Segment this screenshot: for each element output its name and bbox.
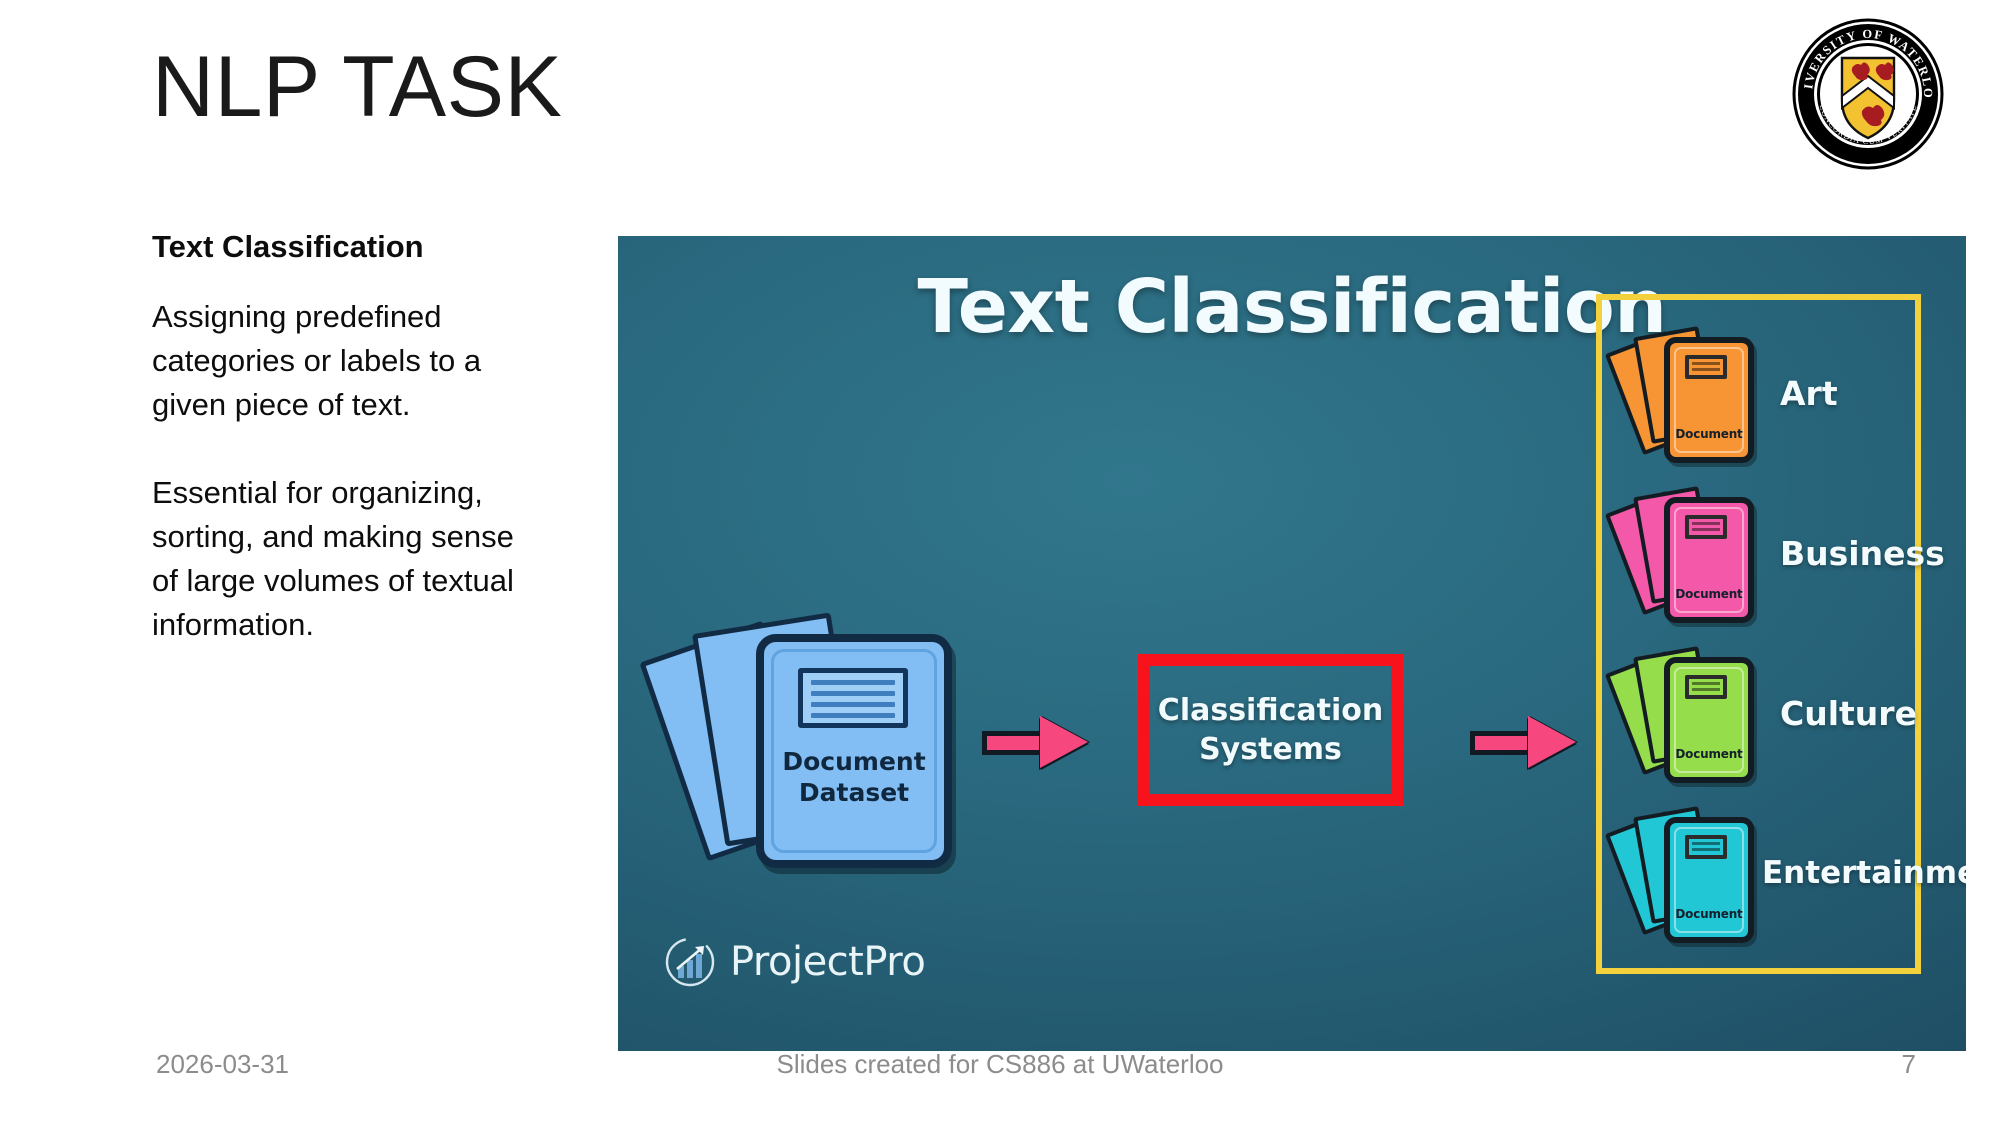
arrow-right-icon-2 [1470,716,1576,768]
dataset-card: Document Dataset [756,634,952,868]
category-card: Document [1664,657,1754,783]
category-doc-caption: Document [1670,907,1748,921]
projectpro-chart-icon [664,936,716,988]
category-doc-stack: Document [1620,483,1738,623]
category-card: Document [1664,497,1754,623]
category-row-culture: Document Culture [1620,638,1915,788]
category-label-business: Business [1780,534,1945,573]
body-paragraph-1: Assigning predefined categories or label… [152,295,542,427]
body-column: Text Classification Assigning predefined… [152,228,542,647]
projectpro-watermark: ProjectPro [664,936,925,988]
category-label-culture: Culture [1780,694,1917,733]
category-lines-icon [1685,675,1727,699]
university-of-waterloo-seal-icon: UNIVERSITY OF WATERLOO CONCORDIA CUM VER… [1792,18,1944,170]
classification-systems-box: Classification Systems [1138,654,1403,806]
category-row-entertainment: Document Entertainment [1620,798,1915,948]
category-doc-stack: Document [1620,643,1738,783]
text-classification-diagram: Text Classification Document Dataset Cla… [618,236,1966,1051]
body-paragraph-2: Essential for organizing, sorting, and m… [152,471,542,647]
category-doc-caption: Document [1670,587,1748,601]
body-heading: Text Classification [152,228,542,267]
footer-page-number: 7 [1902,1049,1916,1080]
category-doc-caption: Document [1670,427,1748,441]
category-lines-icon [1685,835,1727,859]
slide-footer: 2026-03-31 Slides created for CS886 at U… [0,1049,2000,1083]
dataset-label: Document Dataset [764,746,944,809]
document-dataset-graphic: Document Dataset [670,614,960,864]
category-card: Document [1664,337,1754,463]
category-card: Document [1664,817,1754,943]
footer-center-text: Slides created for CS886 at UWaterloo [0,1049,2000,1080]
projectpro-wordmark: ProjectPro [730,939,925,985]
page-title: NLP TASK [152,42,562,132]
category-row-art: Document Art [1620,318,1915,468]
document-lines-icon [798,668,908,728]
category-label-art: Art [1780,374,1838,413]
arrow-right-icon-1 [982,716,1088,768]
category-label-entertainment: Entertainment [1762,855,1966,891]
classification-systems-label: Classification Systems [1150,691,1391,769]
category-doc-caption: Document [1670,747,1748,761]
category-doc-stack: Document [1620,803,1738,943]
category-panel: Document Art Document Business [1596,294,1921,974]
category-lines-icon [1685,515,1727,539]
category-lines-icon [1685,355,1727,379]
category-doc-stack: Document [1620,323,1738,463]
category-row-business: Document Business [1620,478,1915,628]
